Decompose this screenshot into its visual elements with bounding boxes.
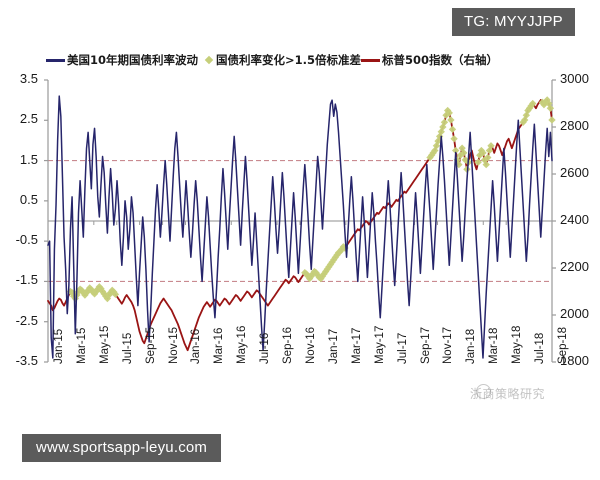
legend-item-rate-volatility: 美国10年期国债利率波动	[46, 52, 198, 68]
x-axis-label-2: May-15	[99, 326, 111, 364]
y-axis-right-label-5: 2000	[560, 306, 600, 321]
x-axis-label-19: Mar-18	[488, 328, 500, 364]
legend-label-0: 美国10年期国债利率波动	[67, 52, 198, 68]
x-axis-label-7: Mar-16	[213, 328, 225, 364]
y-axis-left-label-7: -3.5	[4, 353, 38, 368]
x-axis-label-13: Mar-17	[351, 328, 363, 364]
x-axis-label-3: Jul-15	[122, 333, 134, 364]
x-axis-label-20: May-18	[511, 326, 523, 364]
y-axis-left-label-4: -0.5	[4, 232, 38, 247]
x-axis-label-17: Nov-17	[442, 327, 454, 364]
x-axis-label-16: Sep-17	[420, 327, 432, 364]
y-axis-left-label-6: -2.5	[4, 313, 38, 328]
highlight-diamond-marker	[450, 135, 457, 142]
series-line-rate-volatility	[48, 96, 552, 358]
x-axis-label-21: Jul-18	[534, 333, 546, 364]
y-axis-right-label-2: 2600	[560, 165, 600, 180]
legend-diamond-icon	[205, 56, 213, 64]
chart-legend: 美国10年期国债利率波动 国债利率变化>1.5倍标准差 标普500指数（右轴）	[46, 51, 546, 69]
legend-item-sp500: 标普500指数（右轴）	[361, 52, 498, 68]
y-axis-left-label-2: 1.5	[4, 152, 38, 167]
url-banner: www.sportsapp-leyu.com	[22, 434, 221, 462]
watermark-text: 浙商策略研究	[470, 385, 545, 402]
x-axis-label-8: May-16	[236, 326, 248, 364]
y-axis-right-label-3: 2400	[560, 212, 600, 227]
y-axis-left-label-5: -1.5	[4, 272, 38, 287]
x-axis-label-4: Sep-15	[145, 327, 157, 364]
legend-item-stddev-marker: 国债利率变化>1.5倍标准差	[198, 52, 361, 68]
x-axis-label-11: Nov-16	[305, 327, 317, 364]
x-axis-label-18: Jan-18	[465, 329, 477, 364]
y-axis-right-label-1: 2800	[560, 118, 600, 133]
x-axis-label-9: Jul-16	[259, 333, 271, 364]
x-axis-label-5: Nov-15	[168, 327, 180, 364]
y-axis-right-label-0: 3000	[560, 71, 600, 86]
x-axis-label-1: Mar-15	[76, 328, 88, 364]
legend-label-2: 标普500指数（右轴）	[382, 52, 498, 68]
y-axis-left-label-3: 0.5	[4, 192, 38, 207]
highlight-diamond-marker	[449, 126, 456, 133]
x-axis-label-22: Sep-18	[557, 327, 569, 364]
legend-line-icon-red	[361, 59, 380, 62]
highlight-diamond-marker	[548, 116, 555, 123]
y-axis-left-label-1: 2.5	[4, 111, 38, 126]
y-axis-right-label-4: 2200	[560, 259, 600, 274]
x-axis-label-15: Jul-17	[397, 333, 409, 364]
highlight-diamond-marker	[447, 116, 454, 123]
x-axis-label-12: Jan-17	[328, 329, 340, 364]
x-axis-label-14: May-17	[374, 326, 386, 364]
chart-canvas	[0, 70, 600, 370]
y-axis-left-label-0: 3.5	[4, 71, 38, 86]
legend-label-1: 国债利率变化>1.5倍标准差	[216, 52, 361, 68]
x-axis-label-0: Jan-15	[53, 329, 65, 364]
x-axis-label-6: Jan-16	[190, 329, 202, 364]
x-axis-label-10: Sep-16	[282, 327, 294, 364]
chart-screenshot: TG: MYYJJPP 美国10年期国债利率波动 国债利率变化>1.5倍标准差 …	[0, 0, 600, 480]
plot-area	[0, 70, 600, 370]
tg-banner: TG: MYYJJPP	[452, 8, 575, 36]
legend-line-icon-navy	[46, 59, 65, 62]
